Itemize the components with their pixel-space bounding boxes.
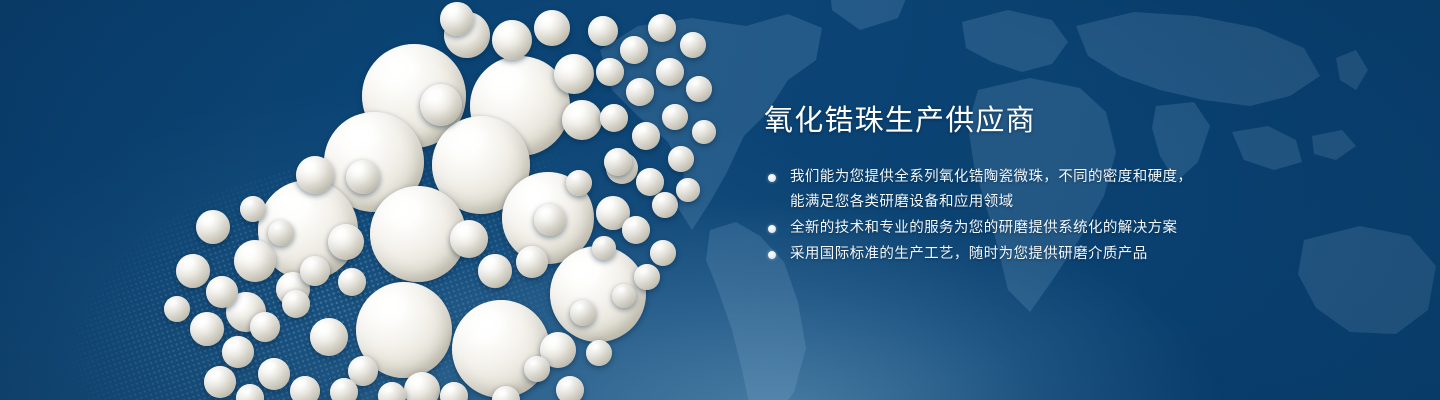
list-item-line1: 全新的技术和专业的服务为您的研磨提供系统化的解决方案 xyxy=(790,220,1177,236)
list-item-line1: 采用国际标准的生产工艺，随时为您提供研磨介质产品 xyxy=(790,246,1148,262)
hero-banner: 氧化锆珠生产供应商 我们能为您提供全系列氧化锆陶瓷微珠，不同的密度和硬度， 能满… xyxy=(0,0,1440,400)
banner-copy: 氧化锆珠生产供应商 我们能为您提供全系列氧化锆陶瓷微珠，不同的密度和硬度， 能满… xyxy=(764,104,1324,268)
list-item: 采用国际标准的生产工艺，随时为您提供研磨介质产品 xyxy=(764,242,1324,267)
page-title: 氧化锆珠生产供应商 xyxy=(764,104,1324,138)
feature-list: 我们能为您提供全系列氧化锆陶瓷微珠，不同的密度和硬度， 能满足您各类研磨设备和应… xyxy=(764,165,1324,267)
list-item-line2: 能满足您各类研磨设备和应用领域 xyxy=(790,190,1324,215)
bullet-dot-icon xyxy=(768,225,776,233)
list-item: 我们能为您提供全系列氧化锆陶瓷微珠，不同的密度和硬度， 能满足您各类研磨设备和应… xyxy=(764,165,1324,215)
list-item-line1: 我们能为您提供全系列氧化锆陶瓷微珠，不同的密度和硬度， xyxy=(790,169,1192,185)
list-item: 全新的技术和专业的服务为您的研磨提供系统化的解决方案 xyxy=(764,216,1324,241)
bullet-dot-icon xyxy=(768,251,776,259)
bullet-dot-icon xyxy=(768,174,776,182)
